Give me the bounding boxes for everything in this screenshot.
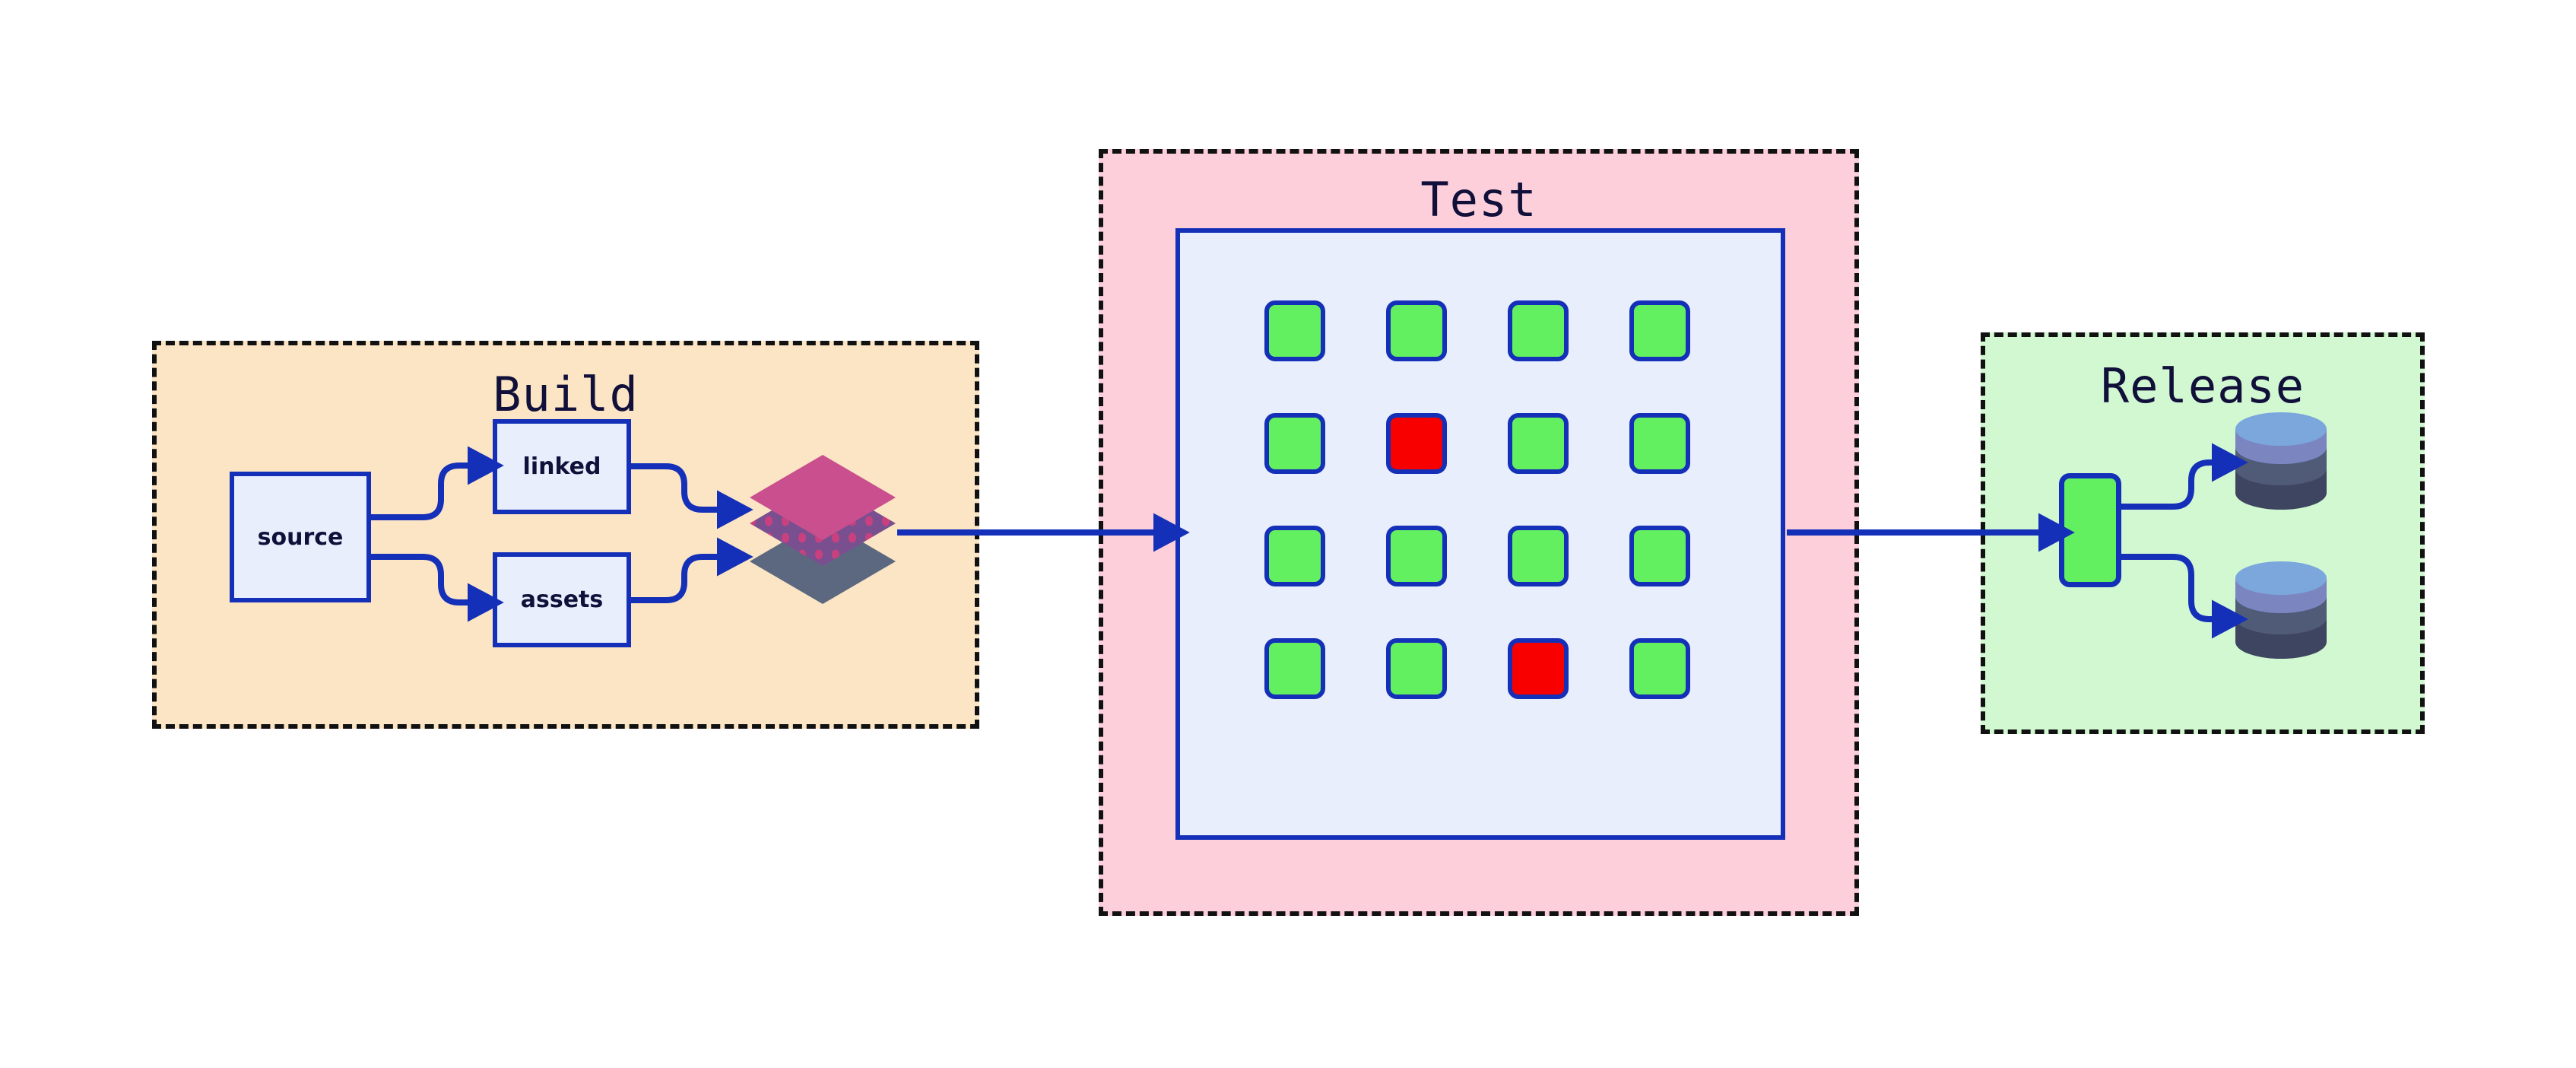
test-cell-pass-r4c4[interactable] <box>1629 638 1690 699</box>
test-cell-pass-r1c3[interactable] <box>1508 300 1569 361</box>
test-cell-pass-r3c2[interactable] <box>1386 526 1447 586</box>
stage-release[interactable]: Release <box>1981 332 2425 734</box>
test-cell-pass-r2c1[interactable] <box>1264 413 1325 474</box>
test-cell-pass-r2c4[interactable] <box>1629 413 1690 474</box>
release-gate-node[interactable] <box>2059 473 2121 587</box>
node-assets-label: assets <box>521 586 604 613</box>
database-cylinder-icon[interactable] <box>2232 561 2330 662</box>
layers-stack-icon <box>747 449 899 616</box>
node-source-label: source <box>258 524 344 551</box>
node-linked-label: linked <box>523 453 601 480</box>
test-cell-pass-r3c1[interactable] <box>1264 526 1325 586</box>
test-cell-fail-r2c2[interactable] <box>1386 413 1447 474</box>
test-cell-pass-r3c4[interactable] <box>1629 526 1690 586</box>
stage-test-title: Test <box>1103 172 1854 227</box>
test-cell-pass-r1c2[interactable] <box>1386 300 1447 361</box>
test-results-panel[interactable] <box>1175 228 1785 840</box>
test-cell-pass-r4c2[interactable] <box>1386 638 1447 699</box>
node-linked[interactable]: linked <box>493 419 631 514</box>
test-cell-pass-r4c1[interactable] <box>1264 638 1325 699</box>
stage-release-title: Release <box>1985 358 2420 414</box>
stage-build-title: Build <box>157 367 975 422</box>
test-cell-pass-r1c4[interactable] <box>1629 300 1690 361</box>
test-cell-pass-r3c3[interactable] <box>1508 526 1569 586</box>
node-source[interactable]: source <box>230 472 371 602</box>
database-cylinder-icon[interactable] <box>2232 412 2330 513</box>
test-cell-pass-r1c1[interactable] <box>1264 300 1325 361</box>
diagram-canvas: Build source linked assets Test Release <box>0 0 2576 1068</box>
test-cell-fail-r4c3[interactable] <box>1508 638 1569 699</box>
node-assets[interactable]: assets <box>493 552 631 647</box>
test-cell-pass-r2c3[interactable] <box>1508 413 1569 474</box>
